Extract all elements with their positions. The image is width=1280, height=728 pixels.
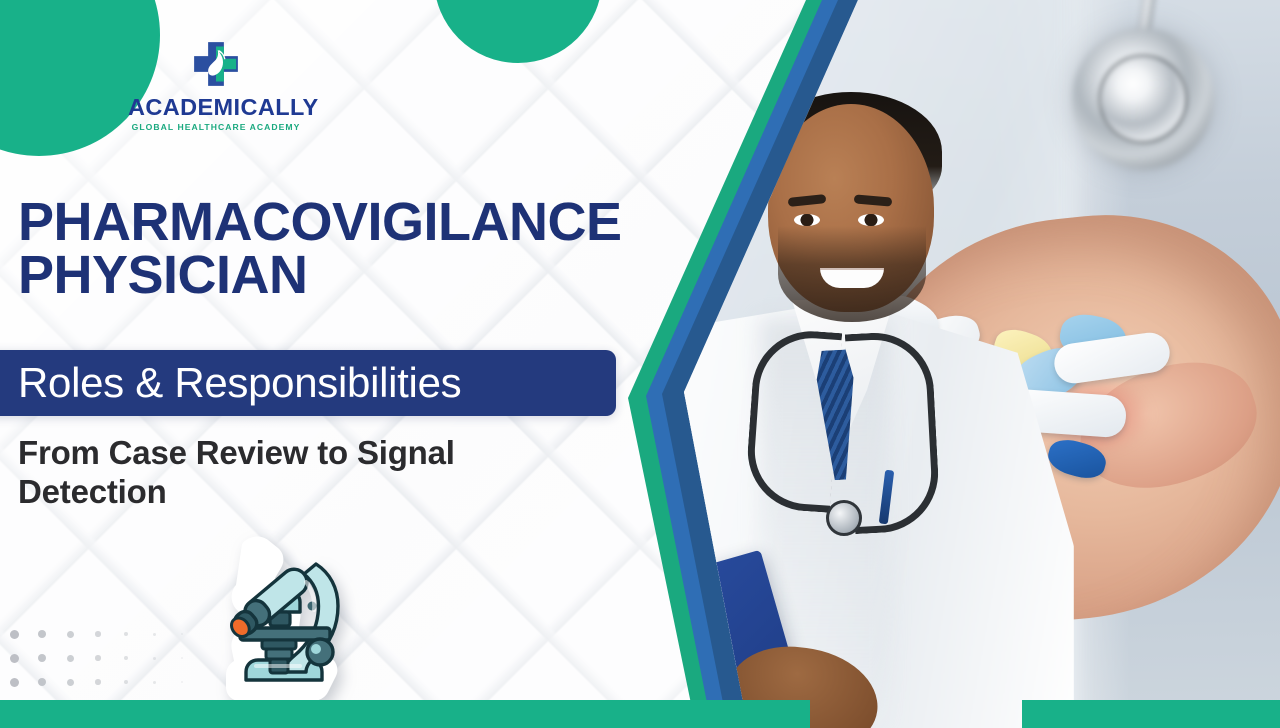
subtitle-line-1: From Case Review to Signal bbox=[18, 434, 578, 473]
subtitle-line-2: Detection bbox=[18, 473, 578, 512]
teal-bottom-bar-right bbox=[1022, 700, 1280, 728]
medical-cross-hand-icon bbox=[188, 36, 244, 92]
stethoscope-head bbox=[826, 500, 862, 536]
page-title: PHARMACOVIGILANCE PHYSICIAN bbox=[18, 196, 708, 302]
photo-collage bbox=[600, 0, 1280, 728]
brand-name: ACADEMICALLY bbox=[128, 96, 304, 120]
headline-line-2: PHYSICIAN bbox=[18, 249, 708, 302]
brand-tagline: GLOBAL HEALTHCARE ACADEMY bbox=[128, 123, 304, 132]
headline-line-1: PHARMACOVIGILANCE bbox=[18, 196, 708, 249]
brand-logo[interactable]: ACADEMICALLY GLOBAL HEALTHCARE ACADEMY bbox=[128, 36, 304, 131]
microscope-sticker-icon bbox=[196, 524, 364, 700]
doctor-smile bbox=[820, 268, 884, 288]
teal-bottom-bar-left bbox=[0, 700, 810, 728]
doctor-eye-right bbox=[858, 214, 884, 226]
page-subtitle: From Case Review to Signal Detection bbox=[18, 434, 578, 511]
banner-root: ACADEMICALLY GLOBAL HEALTHCARE ACADEMY P… bbox=[0, 0, 1280, 728]
doctor-eye-left bbox=[794, 214, 820, 226]
highlight-band: Roles & Responsibilities bbox=[0, 350, 616, 416]
stethoscope-diaphragm bbox=[1098, 54, 1188, 144]
highlight-band-text: Roles & Responsibilities bbox=[18, 362, 461, 404]
